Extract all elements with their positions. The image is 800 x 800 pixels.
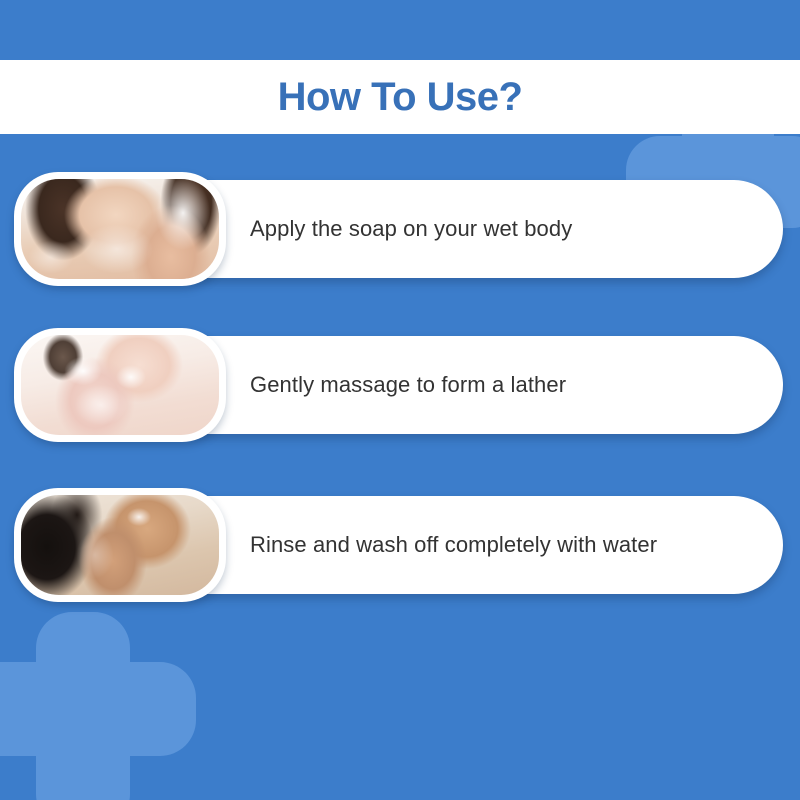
how-to-use-infographic: How To Use? Apply the soap on your wet b… (0, 0, 800, 800)
decorative-cross-bottom-left (0, 600, 200, 800)
header-banner: How To Use? (0, 60, 800, 134)
step-label: Gently massage to form a lather (250, 372, 566, 398)
step-label: Rinse and wash off completely with water (250, 532, 657, 558)
step-thumbnail-frame (14, 328, 226, 442)
page-title: How To Use? (278, 77, 523, 117)
step-thumbnail (21, 335, 219, 435)
step-card-1: Apply the soap on your wet body (18, 180, 783, 278)
photo-massage-lather (21, 335, 219, 435)
cross-horizontal-bar (0, 662, 196, 756)
step-thumbnail (21, 179, 219, 279)
step-label: Apply the soap on your wet body (250, 216, 572, 242)
cross-vertical-bar (36, 612, 130, 800)
step-card-2: Gently massage to form a lather (18, 336, 783, 434)
photo-rinse-water (21, 495, 219, 595)
step-thumbnail-frame (14, 488, 226, 602)
step-thumbnail (21, 495, 219, 595)
step-card-3: Rinse and wash off completely with water (18, 496, 783, 594)
photo-apply-soap (21, 179, 219, 279)
step-thumbnail-frame (14, 172, 226, 286)
